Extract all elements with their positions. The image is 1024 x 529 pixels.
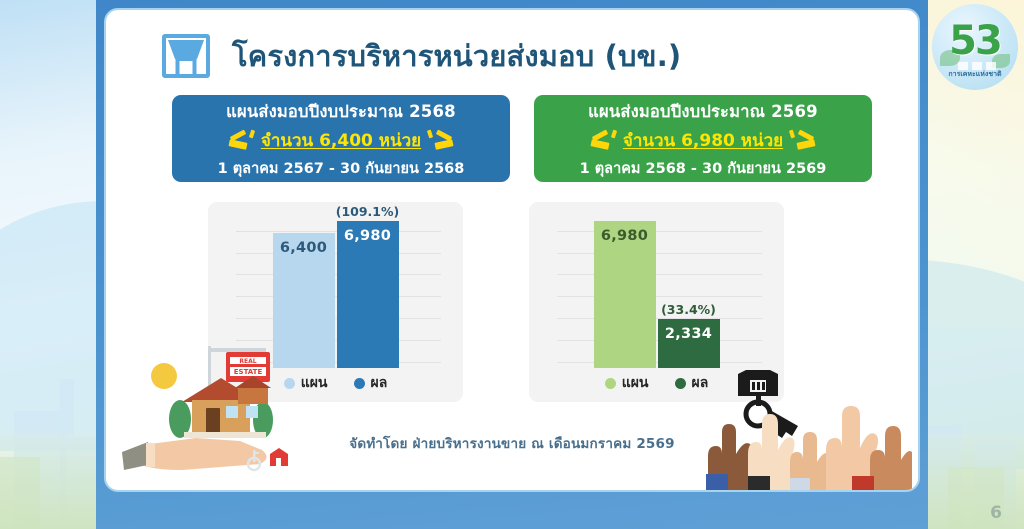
bar-column-actual[interactable]: (33.4%) 2,334 xyxy=(658,212,720,368)
banner-amount-row: จำนวน 6,980 หน่วย xyxy=(591,127,815,154)
slide-header: โครงการบริหารหน่วยส่งมอบ (บข.) xyxy=(106,26,918,86)
raised-hands-reaching-for-house-keys-icon xyxy=(702,370,912,490)
legend-dot-actual-icon xyxy=(675,378,686,389)
anniversary-caption: การเคหะแห่งชาติ xyxy=(932,69,1018,80)
legend-label-plan: แผน xyxy=(622,372,649,394)
banner-date-range: 1 ตุลาคม 2567 - 30 กันยายน 2568 xyxy=(218,157,465,180)
nha-funnel-logo-icon xyxy=(162,34,210,78)
bar-actual[interactable]: (33.4%) 2,334 xyxy=(658,319,720,368)
bar-value-plan: 6,980 xyxy=(594,228,656,244)
bar-value-plan: 6,400 xyxy=(273,240,335,256)
banner-date-range: 1 ตุลาคม 2568 - 30 กันยายน 2569 xyxy=(580,157,827,180)
slide-content: โครงการบริหารหน่วยส่งมอบ (บข.) แผนส่งมอบ… xyxy=(104,8,920,492)
hand-holding-house-with-real-estate-sign-icon: REAL ESTATE xyxy=(122,340,352,490)
bar-percent-actual: (33.4%) xyxy=(644,302,734,317)
banner-amount: จำนวน 6,980 หน่วย xyxy=(623,127,783,154)
legend-dot-plan-icon xyxy=(605,378,616,389)
chart-plot-area: 6,980 (33.4%) 2,334 xyxy=(529,212,784,368)
banner-row: แผนส่งมอบปีงบประมาณ 2568 จำนวน 6,400 หน่… xyxy=(172,95,872,182)
sparkle-right-icon xyxy=(423,130,453,152)
legend-dot-actual-icon xyxy=(354,378,365,389)
legend-item-plan[interactable]: แผน xyxy=(605,372,649,394)
bar-column-plan[interactable]: 6,980 xyxy=(594,212,656,368)
bar-value-actual: 6,980 xyxy=(337,228,399,244)
chart-bars: 6,980 (33.4%) 2,334 xyxy=(529,212,784,368)
legend-item-actual[interactable]: ผล xyxy=(354,372,388,394)
sparkle-left-icon xyxy=(591,130,621,152)
svg-text:ESTATE: ESTATE xyxy=(234,368,263,376)
banner-amount-row: จำนวน 6,400 หน่วย xyxy=(229,127,453,154)
banner-amount: จำนวน 6,400 หน่วย xyxy=(261,127,421,154)
page-number: 6 xyxy=(990,503,1002,523)
page-title: โครงการบริหารหน่วยส่งมอบ (บข.) xyxy=(232,33,681,79)
bar-plan[interactable]: 6,980 xyxy=(594,221,656,368)
banner-plan-2569: แผนส่งมอบปีงบประมาณ 2569 จำนวน 6,980 หน่… xyxy=(534,95,872,182)
bar-percent-actual: (109.1%) xyxy=(323,204,413,219)
sparkle-right-icon xyxy=(785,130,815,152)
legend-label-actual: ผล xyxy=(371,372,388,394)
banner-plan-2568: แผนส่งมอบปีงบประมาณ 2568 จำนวน 6,400 หน่… xyxy=(172,95,510,182)
anniversary-53-logo: 53 การเคหะแห่งชาติ xyxy=(932,4,1018,90)
bar-value-actual: 2,334 xyxy=(658,326,720,342)
sparkle-left-icon xyxy=(229,130,259,152)
banner-title: แผนส่งมอบปีงบประมาณ 2568 xyxy=(226,99,456,125)
svg-text:REAL: REAL xyxy=(239,358,256,365)
anniversary-number: 53 xyxy=(932,18,1018,64)
banner-title: แผนส่งมอบปีงบประมาณ 2569 xyxy=(588,99,818,125)
